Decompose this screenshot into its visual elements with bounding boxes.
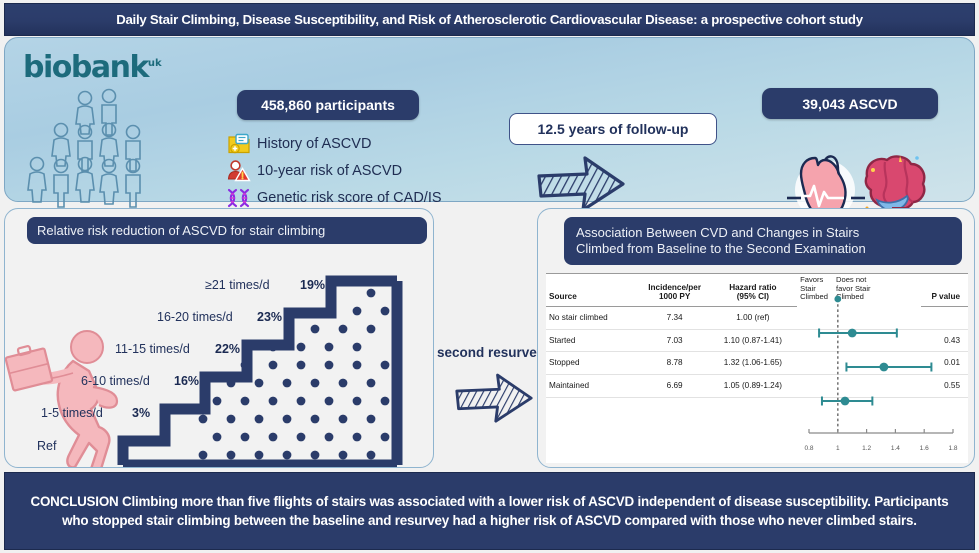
cell-forest-slot: [797, 352, 921, 375]
table-row: Maintained6.691.05 (0.89-1.24)0.55: [546, 375, 968, 398]
stair-pct-4: 23%: [257, 310, 282, 324]
measures-list: History of ASCVD 10-year risk of ASCVD: [223, 130, 442, 211]
cell-hazard-ratio: 1.00 (ref): [709, 306, 798, 329]
col-header-p-value: P value: [921, 274, 968, 307]
cell-p-value: [921, 306, 968, 329]
axis-tick-label: 1.8: [948, 445, 957, 452]
stair-label-ref: Ref: [37, 439, 56, 453]
cell-hazard-ratio: 1.05 (0.89-1.24): [709, 375, 798, 398]
cohort-overview-panel: biobankuk: [4, 37, 975, 202]
person-warning-icon: [223, 158, 255, 184]
list-item: Genetic risk score of CAD/IS: [223, 184, 442, 211]
biobank-wordmark: biobank: [23, 50, 148, 85]
table-row: Started7.031.10 (0.87-1.41)0.43: [546, 329, 968, 352]
folder-document-icon: [223, 131, 255, 157]
table-header-row: Source Incidence/per 1000 PY Hazard rati…: [546, 274, 968, 307]
participants-badge: 458,860 participants: [237, 90, 419, 120]
stair-climbing-chart-card: Relative risk reduction of ASCVD for sta…: [4, 208, 434, 468]
list-item-label: Genetic risk score of CAD/IS: [257, 190, 442, 206]
crowd-people-icon: [17, 88, 195, 208]
cell-forest-slot: [797, 329, 921, 352]
stair-label-2: 6-10 times/d: [81, 374, 150, 388]
cell-incidence: 8.78: [641, 352, 709, 375]
list-item-label: History of ASCVD: [257, 136, 371, 152]
conclusion-bar: CONCLUSION Climbing more than five fligh…: [4, 472, 975, 550]
forest-plot-heading: Association Between CVD and Changes in S…: [564, 217, 962, 265]
cell-hazard-ratio: 1.32 (1.06-1.65): [709, 352, 798, 375]
col-header-forest-axis-labels: Favors Stair Climbed Does not favor Stai…: [797, 274, 921, 307]
stair-pct-5: 19%: [300, 278, 325, 292]
cell-source: Started: [546, 329, 641, 352]
table-row: No stair climbed7.341.00 (ref): [546, 306, 968, 329]
resurvey-arrow-icon: [450, 368, 538, 435]
dna-helix-icon: [223, 185, 255, 211]
stair-label-3: 11-15 times/d: [115, 342, 190, 356]
biobank-uk-sup: uk: [148, 58, 162, 69]
table-row: Stopped8.781.32 (1.06-1.65)0.01: [546, 352, 968, 375]
cell-p-value: 0.55: [921, 375, 968, 398]
axis-tick-label: 1.6: [920, 445, 929, 452]
axis-tick-label: 1: [836, 445, 840, 452]
forest-axis: [809, 429, 953, 433]
forest-plot-heading-line2: Climbed from Baseline to the Second Exam…: [576, 241, 866, 257]
cell-p-value: 0.43: [921, 329, 968, 352]
forest-plot-table-area: Source Incidence/per 1000 PY Hazard rati…: [546, 273, 968, 463]
article-title-bar: Daily Stair Climbing, Disease Susceptibi…: [4, 3, 975, 36]
list-item: 10-year risk of ASCVD: [223, 157, 442, 184]
cell-forest-slot: [797, 306, 921, 329]
axis-tick-label: 0.8: [804, 445, 813, 452]
stair-pct-1: 3%: [132, 406, 150, 420]
stair-label-5: ≥21 times/d: [205, 278, 270, 292]
second-resurvey-label: second resurvey: [437, 345, 544, 360]
forest-plot-heading-line1: Association Between CVD and Changes in S…: [576, 225, 859, 241]
favors-stair-climbed-label: Favors Stair Climbed: [800, 276, 828, 302]
stair-pct-3: 22%: [215, 342, 240, 356]
page-title: Daily Stair Climbing, Disease Susceptibi…: [116, 12, 863, 27]
cell-hazard-ratio: 1.10 (0.87-1.41): [709, 329, 798, 352]
forest-plot-card: Association Between CVD and Changes in S…: [537, 208, 975, 468]
uk-biobank-logo: biobankuk: [23, 50, 162, 85]
hazard-ratio-table: Source Incidence/per 1000 PY Hazard rati…: [546, 273, 968, 398]
stair-pct-2: 16%: [174, 374, 199, 388]
cell-source: Maintained: [546, 375, 641, 398]
cell-incidence: 7.03: [641, 329, 709, 352]
axis-tick-label: 1.2: [862, 445, 871, 452]
ascvd-events-badge: 39,043 ASCVD: [762, 88, 938, 119]
conclusion-text: CONCLUSION Climbing more than five fligh…: [23, 492, 956, 530]
cell-source: No stair climbed: [546, 306, 641, 329]
axis-tick-label: 1.4: [891, 445, 900, 452]
cell-forest-slot: [797, 375, 921, 398]
list-item-label: 10-year risk of ASCVD: [257, 163, 402, 179]
stair-label-1: 1-5 times/d: [41, 406, 103, 420]
stair-label-4: 16-20 times/d: [157, 310, 233, 324]
followup-badge: 12.5 years of follow-up: [509, 113, 717, 145]
does-not-favor-stair-climbed-label: Does not favor Stair Climbed: [836, 276, 871, 302]
col-header-incidence: Incidence/per 1000 PY: [641, 274, 709, 307]
col-header-hazard-ratio: Hazard ratio (95% CI): [709, 274, 798, 307]
col-header-source: Source: [546, 274, 641, 307]
cell-incidence: 7.34: [641, 306, 709, 329]
forest-axis-tick-labels: 0.811.21.41.61.8: [801, 445, 961, 459]
cell-incidence: 6.69: [641, 375, 709, 398]
cell-p-value: 0.01: [921, 352, 968, 375]
graphical-abstract: Daily Stair Climbing, Disease Susceptibi…: [0, 0, 979, 553]
list-item: History of ASCVD: [223, 130, 442, 157]
cell-source: Stopped: [546, 352, 641, 375]
runner-with-briefcase-icon: [5, 331, 117, 468]
